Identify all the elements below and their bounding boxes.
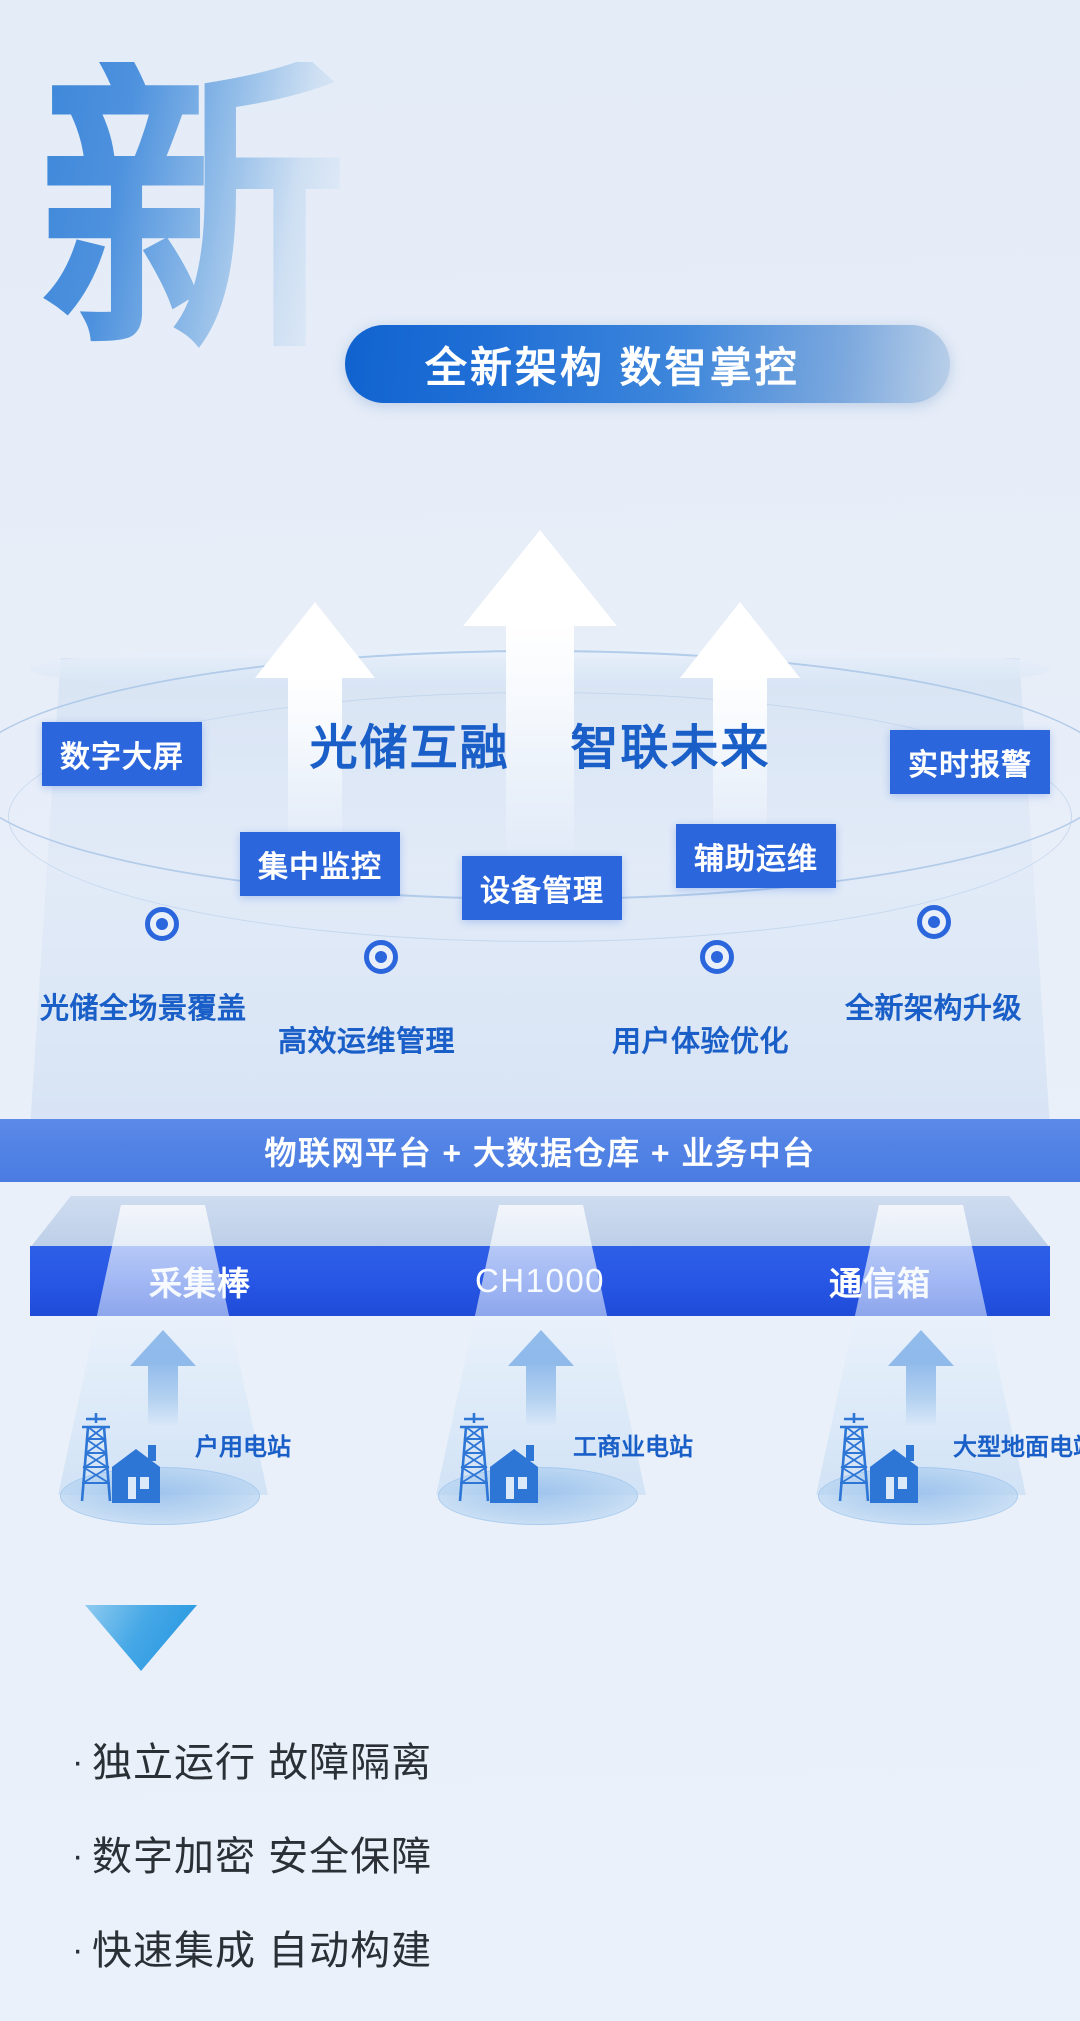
growth-arrow-center [463, 530, 618, 860]
feature-text: 快速集成 自动构建 [92, 1928, 432, 1974]
feature-item-1: · 独立运行 故障隔离 [72, 1740, 892, 1786]
power-tower-house-icon [62, 1405, 182, 1515]
tag-device-management[interactable]: 设备管理 [462, 856, 622, 920]
infographic-poster: 新 全新架构 数智掌控 光储互融 智联未来 数字大屏 集中 [0, 0, 1080, 2021]
benefit-dot-2 [364, 940, 398, 974]
benefit-label-2: 高效运维管理 [278, 1018, 455, 1060]
benefit-dot-3 [700, 940, 734, 974]
feature-item-2: · 数字加密 安全保障 [72, 1834, 892, 1880]
station-2: 工商业电站 [418, 1395, 718, 1525]
benefit-label-1: 光储全场景覆盖 [40, 985, 247, 1027]
tag-digital-screen[interactable]: 数字大屏 [42, 722, 202, 786]
station-1: 户用电站 [40, 1395, 340, 1525]
benefit-dot-1 [145, 907, 179, 941]
feature-text: 独立运行 故障隔离 [92, 1740, 432, 1786]
station-label-1: 户用电站 [195, 1427, 291, 1462]
feature-text: 数字加密 安全保障 [92, 1834, 432, 1880]
tag-label: 辅助运维 [694, 843, 818, 876]
platform-stack-text: 物联网平台 + 大数据仓库 + 业务中台 [265, 1128, 816, 1174]
station-label-3: 大型地面电站 [953, 1427, 1080, 1462]
hero-big-character: 新 [38, 62, 348, 362]
feature-bullet-icon: · [72, 1928, 92, 1972]
tag-label: 数字大屏 [60, 741, 184, 774]
tag-assisted-ops[interactable]: 辅助运维 [676, 824, 836, 888]
tag-central-monitoring[interactable]: 集中监控 [240, 832, 400, 896]
down-triangle-icon [85, 1605, 197, 1671]
feature-bullet-icon: · [72, 1740, 92, 1784]
station-3: 大型地面电站 [798, 1395, 1080, 1525]
tag-label: 集中监控 [258, 851, 382, 884]
hero-title-text: 全新架构 数智掌控 [425, 334, 800, 395]
power-tower-house-icon [820, 1405, 940, 1515]
headline-part-2: 智联未来 [570, 722, 770, 775]
feature-list: · 独立运行 故障隔离 · 数字加密 安全保障 · 快速集成 自动构建 [72, 1740, 892, 2021]
hero-section: 新 全新架构 数智掌控 [0, 0, 1080, 440]
benefit-label-4: 全新架构升级 [845, 985, 1022, 1027]
station-label-2: 工商业电站 [573, 1427, 693, 1462]
feature-bullet-icon: · [72, 1834, 92, 1878]
tag-realtime-alarm[interactable]: 实时报警 [890, 730, 1050, 794]
headline-part-1: 光储互融 [310, 722, 510, 775]
feature-item-3: · 快速集成 自动构建 [72, 1928, 892, 1974]
tag-label: 设备管理 [480, 875, 604, 908]
power-tower-house-icon [440, 1405, 560, 1515]
platform-stack-bar: 物联网平台 + 大数据仓库 + 业务中台 [0, 1119, 1080, 1182]
tag-label: 实时报警 [908, 749, 1032, 782]
benefit-dot-4 [917, 905, 951, 939]
benefit-label-3: 用户体验优化 [612, 1018, 789, 1060]
hero-title-pill: 全新架构 数智掌控 [345, 325, 950, 403]
